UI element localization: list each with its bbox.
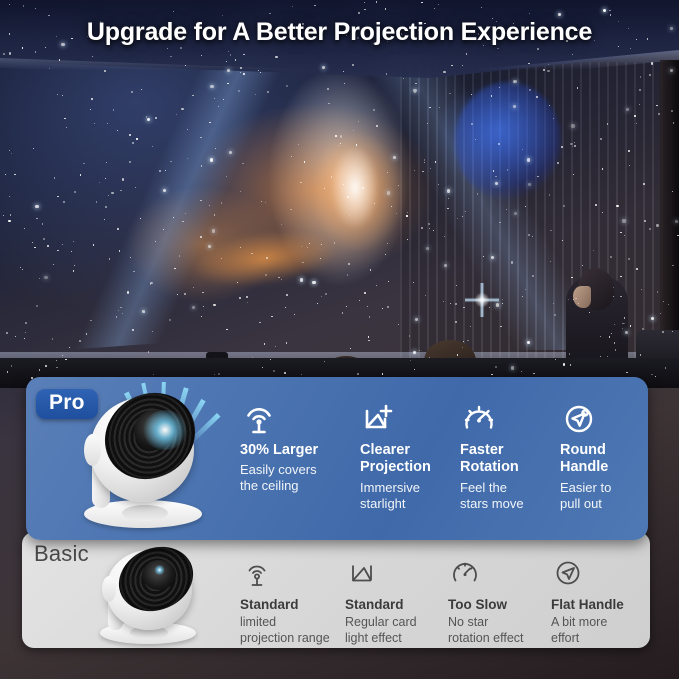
basic-projector-image [92, 546, 212, 646]
pro-projector-image [78, 392, 224, 538]
basic-feature-4-title: Flat Handle [551, 596, 624, 613]
round-handle-icon [560, 400, 598, 443]
pro-feature-2-title: Clearer Projection [360, 442, 431, 476]
signal-tower-icon [240, 400, 278, 443]
basic-feature-2-title: Standard [345, 596, 404, 613]
pro-feature-1-title: 30% Larger [240, 442, 318, 459]
image-plus-icon [360, 400, 398, 443]
product-comparison-image: Upgrade for A Better Projection Experien… [0, 0, 679, 679]
speedometer-icon [460, 400, 498, 443]
basic-feature-1-subtitle: limited projection range [240, 614, 330, 646]
basic-feature-4-subtitle: A bit more effort [551, 614, 607, 646]
signal-tower-icon [240, 556, 274, 595]
basic-feature-3-subtitle: No star rotation effect [448, 614, 524, 646]
basic-badge: Basic [34, 541, 89, 567]
flat-handle-icon [551, 556, 585, 595]
pro-feature-4-subtitle: Easier to pull out [560, 480, 611, 512]
pro-feature-3-subtitle: Feel the stars move [460, 480, 524, 512]
basic-feature-2-subtitle: Regular card light effect [345, 614, 417, 646]
speedometer-slow-icon [448, 556, 482, 595]
basic-feature-1-title: Standard [240, 596, 299, 613]
pro-feature-3-title: Faster Rotation [460, 442, 519, 476]
pro-feature-4-title: Round Handle [560, 442, 608, 476]
page-title: Upgrade for A Better Projection Experien… [0, 18, 679, 47]
pro-feature-2-subtitle: Immersive starlight [360, 480, 420, 512]
basic-feature-3-title: Too Slow [448, 596, 507, 613]
image-broken-icon [345, 556, 379, 595]
pro-feature-1-subtitle: Easily covers the ceiling [240, 462, 317, 494]
